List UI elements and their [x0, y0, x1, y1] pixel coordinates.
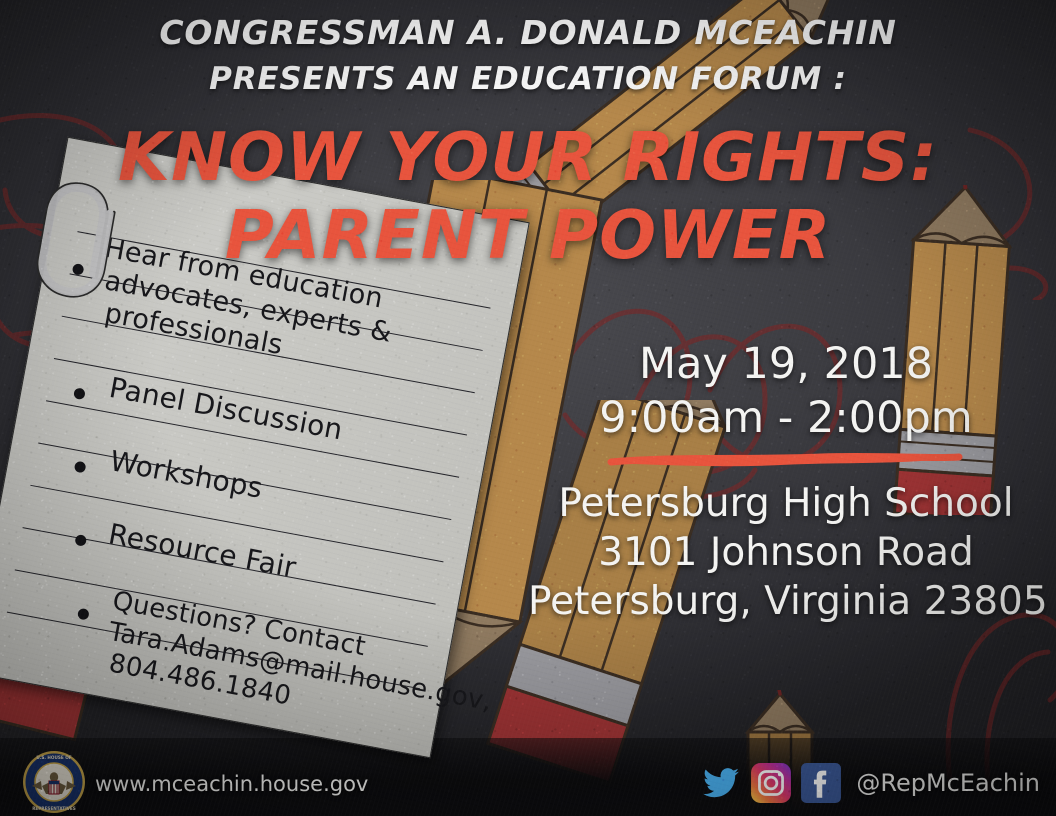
- kicker-line-2: PRESENTS AN EDUCATION FORUM :: [0, 61, 1056, 97]
- twitter-icon[interactable]: [700, 762, 742, 804]
- event-details: May 19, 2018 9:00am - 2:00pm Petersburg …: [528, 340, 1044, 623]
- event-city-state-zip: Petersburg, Virginia 23805: [528, 580, 1044, 624]
- website-url[interactable]: www.mceachin.house.gov: [95, 772, 368, 796]
- headline-line-1: KNOW YOUR RIGHTS:: [0, 118, 1056, 196]
- event-time: 9:00am - 2:00pm: [528, 394, 1044, 442]
- notepad-line-4: Panel Discussion: [107, 372, 346, 447]
- house-seal-icon: U.S. HOUSE OF REPRESENTATIVES: [22, 750, 86, 814]
- event-venue: Petersburg High School: [528, 482, 1044, 526]
- notepad-line-6: Resource Fair: [106, 518, 299, 585]
- svg-text:U.S. HOUSE OF: U.S. HOUSE OF: [36, 755, 71, 760]
- social-links: @RepMcEachin: [700, 762, 1040, 804]
- kicker-line-1: CONGRESSMAN A. DONALD MCEACHIN: [0, 13, 1056, 52]
- headline-line-2: PARENT POWER: [0, 196, 1056, 274]
- notepad-bullet-3: [74, 461, 87, 474]
- notepad-line-5: Workshops: [107, 445, 265, 505]
- flyer-canvas: CONGRESSMAN A. DONALD MCEACHIN PRESENTS …: [0, 0, 1056, 816]
- notepad-bullet-2: [73, 387, 86, 400]
- facebook-icon[interactable]: [800, 762, 842, 804]
- notepad-bullet-5: [77, 608, 90, 621]
- notepad-bullet-4: [74, 534, 87, 547]
- social-handle: @RepMcEachin: [856, 769, 1040, 797]
- event-street: 3101 Johnson Road: [528, 531, 1044, 575]
- instagram-icon[interactable]: [750, 762, 792, 804]
- svg-text:REPRESENTATIVES: REPRESENTATIVES: [32, 806, 76, 811]
- red-underline: [528, 446, 1044, 472]
- event-date: May 19, 2018: [528, 340, 1044, 388]
